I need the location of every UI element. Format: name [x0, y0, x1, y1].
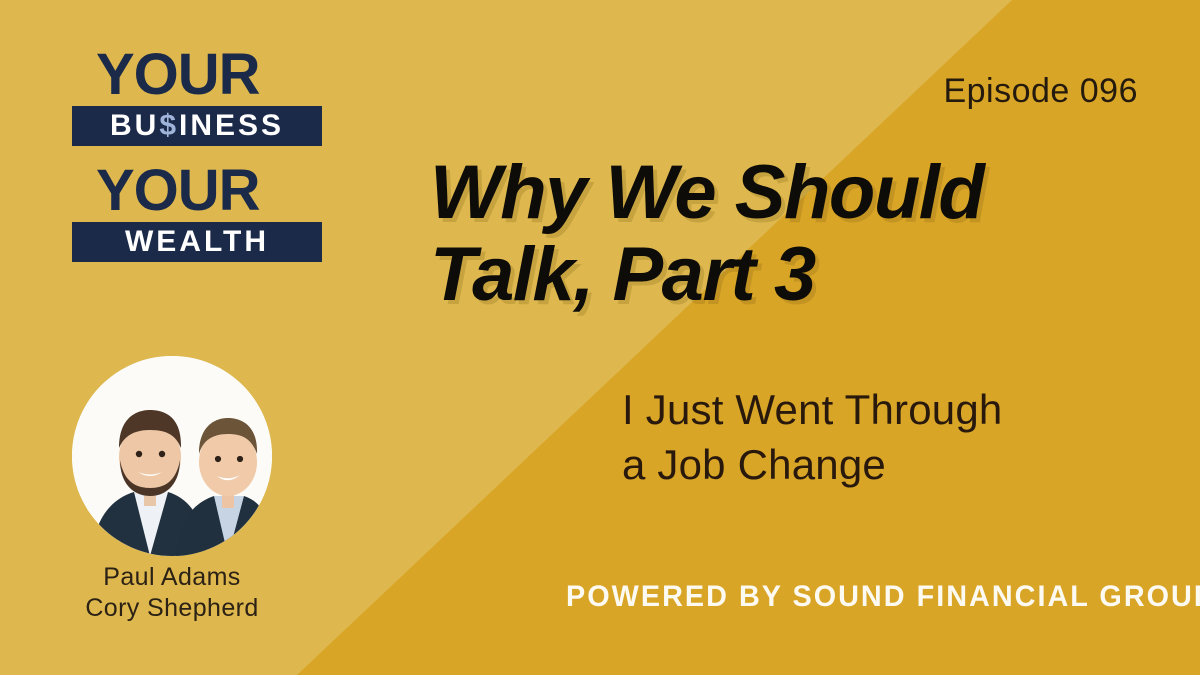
- show-logo: YOUR BU$INESS YOUR WEALTH: [72, 46, 322, 262]
- episode-number: Episode 096: [943, 72, 1138, 111]
- logo-bar-wealth: WEALTH: [72, 222, 322, 262]
- episode-subtitle: I Just Went Through a Job Change: [622, 382, 1162, 493]
- logo-business-prefix: BU: [110, 109, 159, 142]
- host-photo-avatar: [72, 356, 272, 556]
- host-names: Paul Adams Cory Shepherd: [0, 562, 344, 623]
- logo-text-business: BU$INESS: [110, 111, 284, 141]
- powered-by-credit: POWERED BY SOUND FINANCIAL GROUP: [566, 580, 1200, 614]
- host-name-2: Cory Shepherd: [0, 593, 344, 624]
- episode-title: Why We Should Talk, Part 3: [430, 152, 1175, 316]
- host-name-1: Paul Adams: [0, 562, 344, 593]
- dollar-sign-icon: $: [159, 109, 179, 142]
- logo-word-your-bottom: YOUR: [96, 162, 322, 220]
- logo-bar-business: BU$INESS: [72, 106, 322, 146]
- logo-text-wealth: WEALTH: [125, 227, 269, 257]
- episode-title-line-1: Why We Should: [430, 152, 1175, 234]
- episode-title-line-2: Talk, Part 3: [430, 234, 1175, 316]
- logo-business-suffix: INESS: [179, 109, 284, 142]
- podcast-episode-cover: YOUR BU$INESS YOUR WEALTH: [0, 0, 1200, 675]
- episode-subtitle-line-2: a Job Change: [622, 437, 1162, 492]
- episode-subtitle-line-1: I Just Went Through: [622, 382, 1162, 437]
- logo-word-your-top: YOUR: [96, 46, 322, 104]
